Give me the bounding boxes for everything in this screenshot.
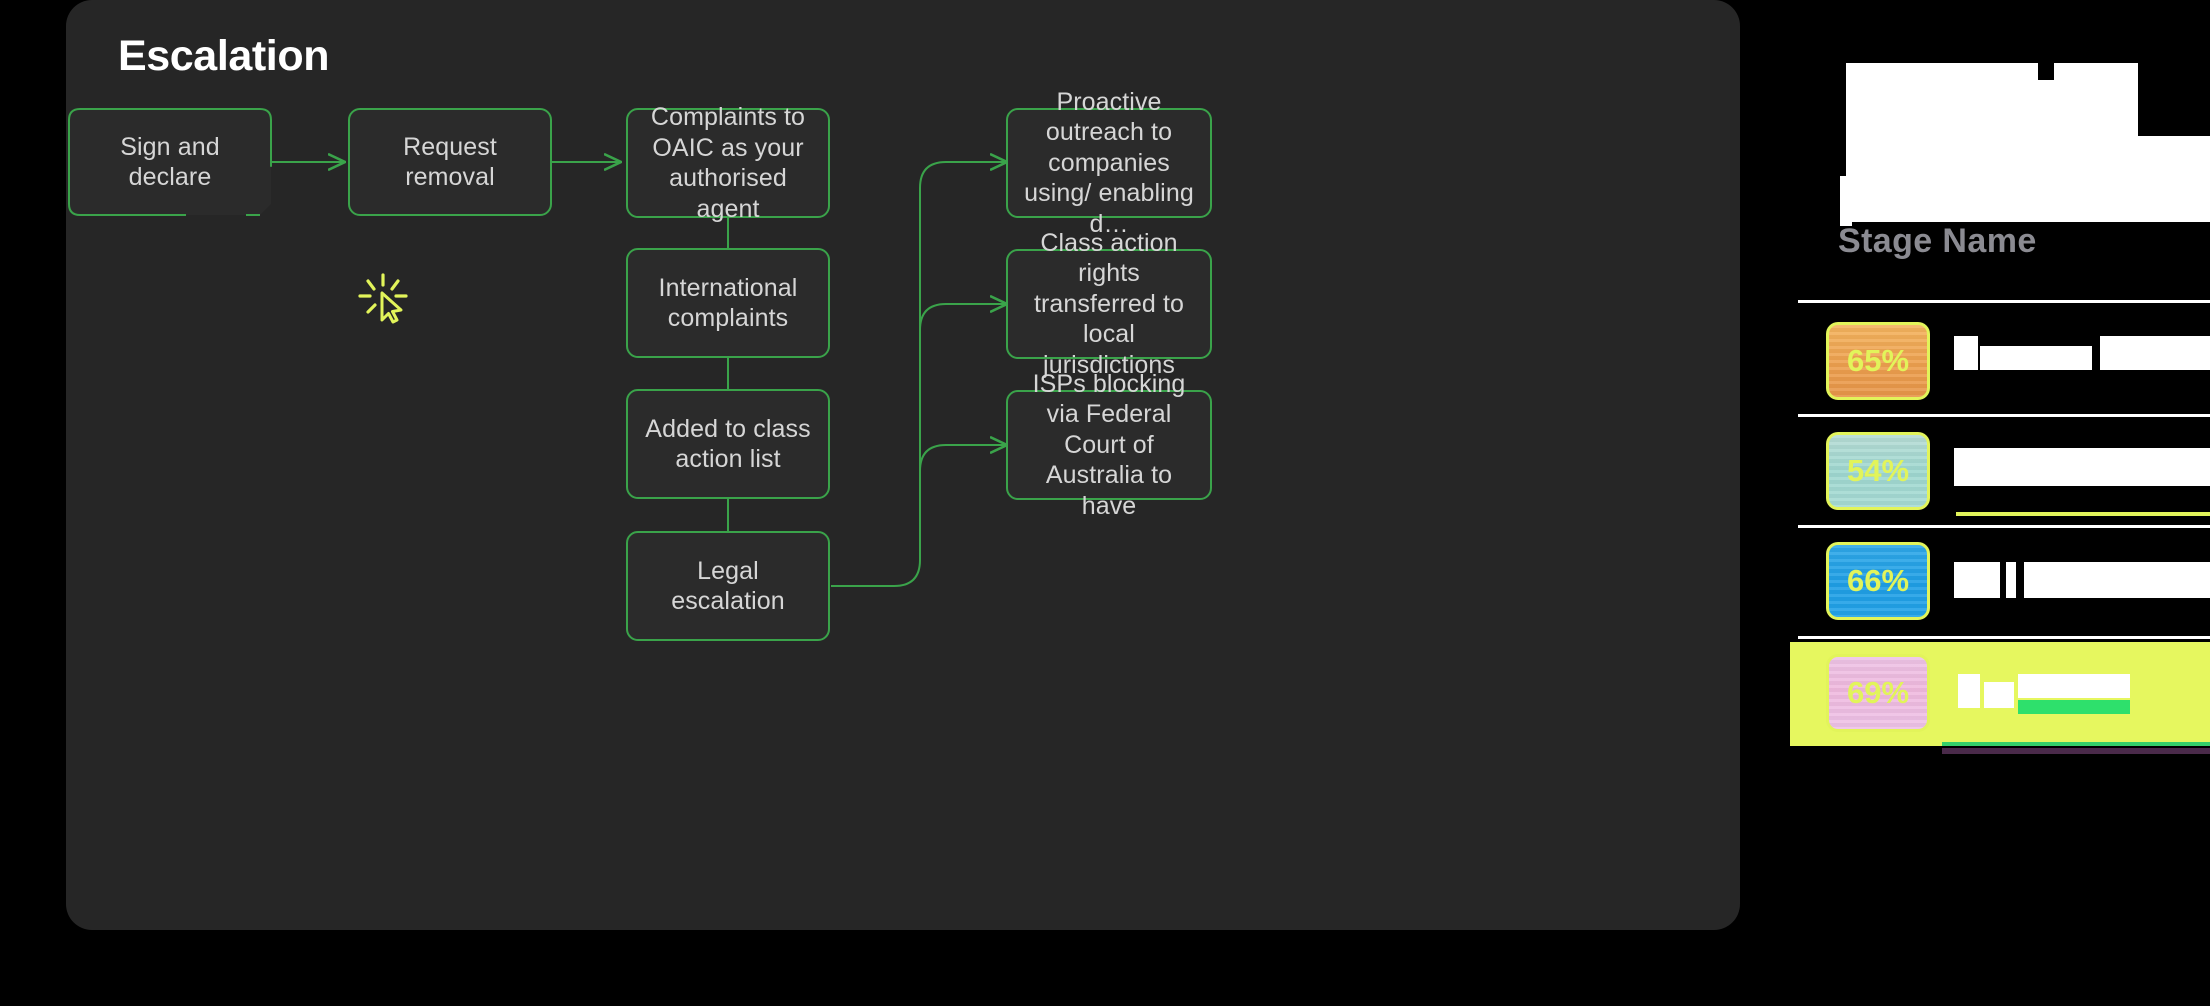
stage-label-artifact <box>2018 674 2130 698</box>
panel-header-artifact <box>1846 136 2210 222</box>
stage-row[interactable]: 65% <box>1790 310 2210 414</box>
flow-node-label: Added to class action list <box>642 414 814 475</box>
click-cursor-icon <box>356 272 410 326</box>
stage-label-artifact <box>1954 448 2210 486</box>
stage-percent-value: 66% <box>1847 563 1909 599</box>
stage-label-artifact <box>2100 336 2210 370</box>
stage-label-artifact <box>2024 562 2210 598</box>
stage-percent-value: 54% <box>1847 453 1909 489</box>
flow-node-label: Class action rights transferred to local… <box>1022 228 1196 381</box>
stage-side-panel: Stage Name 65% 54% 6 <box>1790 0 2210 930</box>
flow-node-international-complaints[interactable]: International complaints <box>626 248 830 358</box>
panel-header-artifact <box>2054 63 2138 80</box>
flow-node-added-to-class-action-list[interactable]: Added to class action list <box>626 389 830 499</box>
flow-node-label: Request removal <box>364 132 536 193</box>
stage-label-artifact <box>1954 562 2000 598</box>
stage-percent-badge: 66% <box>1826 542 1930 620</box>
stage-row[interactable]: 69% <box>1790 642 2210 746</box>
stage-percent-badge: 54% <box>1826 432 1930 510</box>
stage-label-artifact <box>1984 682 2014 708</box>
flow-node-complaints-oaic[interactable]: Complaints to OAIC as your authorised ag… <box>626 108 830 218</box>
stage-sublabel-artifact <box>2018 700 2130 714</box>
flow-connectors <box>66 0 1740 930</box>
panel-heading: Stage Name <box>1838 222 2037 261</box>
panel-divider <box>1798 300 2210 303</box>
highlight-row-shadow <box>1942 748 2210 754</box>
panel-header-artifact <box>1846 80 2138 136</box>
panel-divider <box>1798 636 2210 639</box>
stage-label-artifact <box>1958 674 1980 708</box>
stage-percent-badge: 65% <box>1826 322 1930 400</box>
stage-label-artifact <box>1954 336 1978 370</box>
flow-node-proactive-outreach[interactable]: Proactive outreach to companies using/ e… <box>1006 108 1212 218</box>
stage-row-underline <box>1956 512 2210 516</box>
highlight-row-border <box>1942 742 2210 746</box>
flow-node-isp-blocking[interactable]: ISPs blocking via Federal Court of Austr… <box>1006 390 1212 500</box>
stage-percent-value: 65% <box>1847 343 1909 379</box>
screen-root: Escalation <box>0 0 2210 1006</box>
flow-node-class-action-rights[interactable]: Class action rights transferred to local… <box>1006 249 1212 359</box>
stage-row[interactable]: 66% <box>1790 530 2210 634</box>
flow-node-label: Proactive outreach to companies using/ e… <box>1022 87 1196 240</box>
page-title: Escalation <box>118 32 329 81</box>
stage-row[interactable]: 54% <box>1790 420 2210 524</box>
stage-percent-badge: 69% <box>1826 654 1930 732</box>
panel-header-artifact <box>1846 63 2038 80</box>
stage-percent-value: 69% <box>1847 675 1909 711</box>
flow-node-label: International complaints <box>642 273 814 334</box>
flow-node-request-removal[interactable]: Request removal <box>348 108 552 216</box>
flow-node-label: ISPs blocking via Federal Court of Austr… <box>1022 369 1196 522</box>
flow-node-label: Legal escalation <box>642 556 814 617</box>
flow-node-sign-and-declare[interactable]: Sign and declare <box>68 108 272 216</box>
panel-divider <box>1798 414 2210 417</box>
flow-canvas-card: Escalation <box>66 0 1740 930</box>
flow-node-legal-escalation[interactable]: Legal escalation <box>626 531 830 641</box>
flow-node-label: Complaints to OAIC as your authorised ag… <box>642 102 814 224</box>
panel-divider <box>1798 525 2210 528</box>
stage-label-artifact <box>2006 562 2016 598</box>
stage-label-artifact <box>1980 346 2092 370</box>
panel-header-artifact <box>1840 176 1852 226</box>
flow-node-label: Sign and declare <box>82 132 258 193</box>
